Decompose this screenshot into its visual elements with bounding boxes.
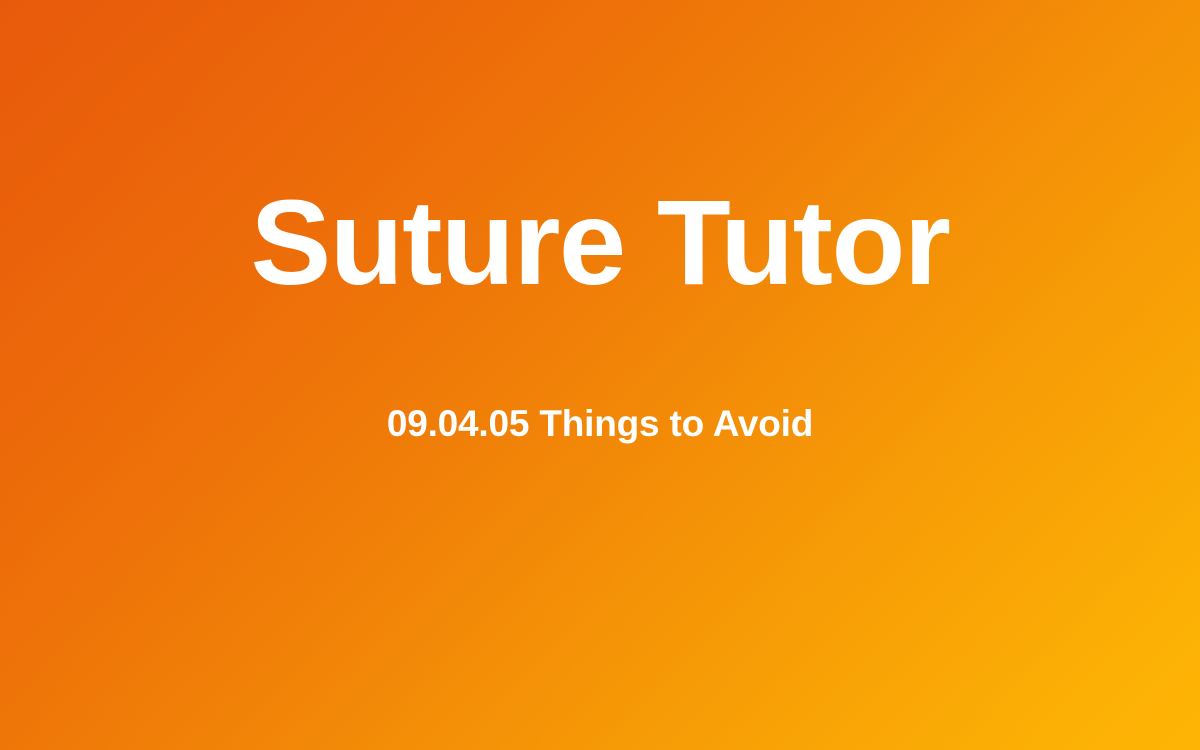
slide-title: Suture Tutor xyxy=(0,182,1200,303)
slide-subtitle: 09.04.05 Things to Avoid xyxy=(0,403,1200,446)
title-slide: Suture Tutor 09.04.05 Things to Avoid xyxy=(0,0,1200,750)
subtitle-block: 09.04.05 Things to Avoid xyxy=(0,403,1200,446)
slide-content: Suture Tutor 09.04.05 Things to Avoid xyxy=(0,0,1200,750)
title-block: Suture Tutor xyxy=(0,182,1200,303)
